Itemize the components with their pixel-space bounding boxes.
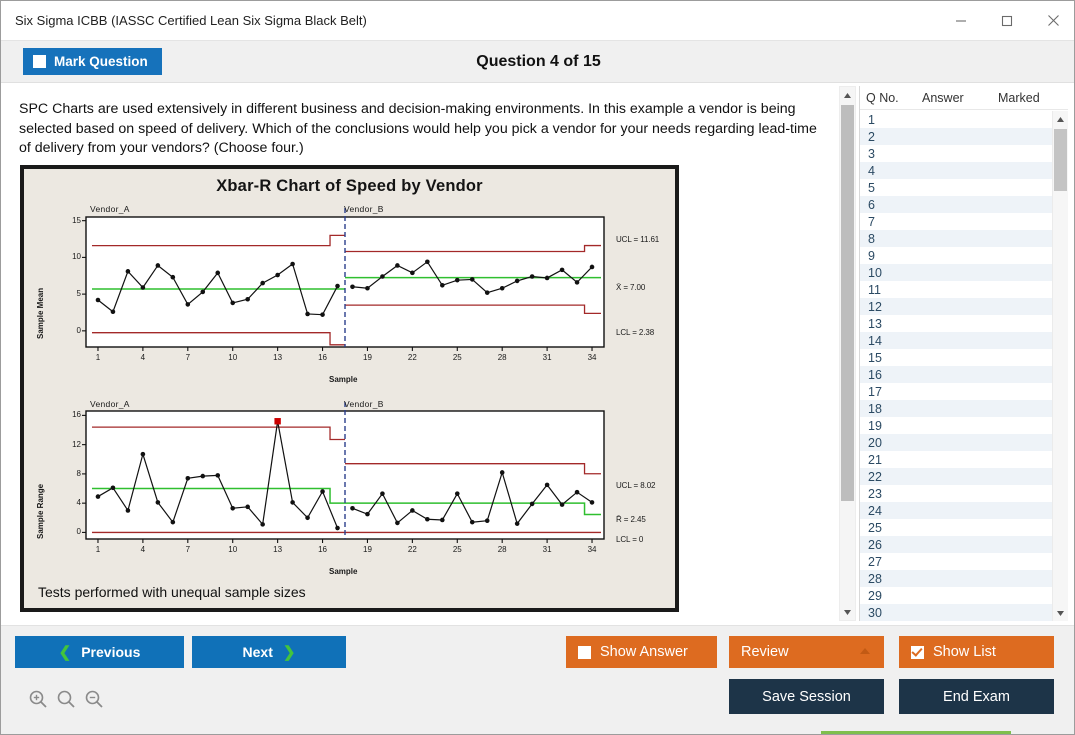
mark-question-label: Mark Question — [54, 54, 148, 69]
x-tick-label: 19 — [359, 545, 375, 554]
zoom-reset-icon[interactable] — [53, 686, 79, 712]
x-tick-label: 4 — [135, 545, 151, 554]
y-tick-label: 10 — [68, 252, 81, 261]
range-lcl-annotation: LCL = 0 — [616, 535, 643, 544]
content-scroll-thumb[interactable] — [841, 105, 854, 501]
spc-chart-image: Xbar-R Chart of Speed by Vendor Sample M… — [20, 165, 679, 612]
x-tick-label: 16 — [315, 353, 331, 362]
save-session-button[interactable]: Save Session — [729, 679, 884, 714]
table-row[interactable]: 3 — [860, 145, 1053, 162]
x-tick-label: 1 — [90, 353, 106, 362]
chevron-left-icon: ❮ — [59, 643, 72, 661]
cell-qno: 19 — [860, 419, 922, 433]
xbar-stage-label-a: Vendor_A — [90, 204, 130, 214]
y-tick-label: 0 — [68, 527, 81, 536]
x-tick-label: 19 — [359, 353, 375, 362]
cell-qno: 23 — [860, 487, 922, 501]
chart-title: Xbar-R Chart of Speed by Vendor — [24, 177, 675, 196]
y-tick-label: 16 — [68, 410, 81, 419]
table-row[interactable]: 29 — [860, 587, 1053, 604]
chevron-up-icon — [860, 648, 870, 654]
table-row[interactable]: 18 — [860, 400, 1053, 417]
y-tick-label: 0 — [68, 326, 81, 335]
x-tick-label: 22 — [404, 545, 420, 554]
table-row[interactable]: 22 — [860, 468, 1053, 485]
status-accent-bar — [821, 731, 1011, 735]
x-tick-label: 7 — [180, 545, 196, 554]
list-scroll-down-icon[interactable] — [1053, 605, 1068, 621]
next-label: Next — [243, 644, 273, 660]
window-title: Six Sigma ICBB (IASSC Certified Lean Six… — [15, 13, 367, 28]
table-row[interactable]: 8 — [860, 230, 1053, 247]
cell-qno: 2 — [860, 130, 922, 144]
xbar-plot — [24, 199, 675, 389]
title-bar: Six Sigma ICBB (IASSC Certified Lean Six… — [1, 1, 1075, 41]
show-list-checkbox[interactable] — [911, 646, 924, 659]
cell-qno: 25 — [860, 521, 922, 535]
table-row[interactable]: 20 — [860, 434, 1053, 451]
table-row[interactable]: 5 — [860, 179, 1053, 196]
range-x-axis-label: Sample — [329, 567, 357, 576]
cell-qno: 21 — [860, 453, 922, 467]
cell-qno: 20 — [860, 436, 922, 450]
cell-qno: 17 — [860, 385, 922, 399]
cell-qno: 28 — [860, 572, 922, 586]
table-row[interactable]: 16 — [860, 366, 1053, 383]
cell-qno: 5 — [860, 181, 922, 195]
cell-qno: 15 — [860, 351, 922, 365]
x-tick-label: 10 — [225, 545, 241, 554]
scroll-up-icon[interactable] — [840, 87, 855, 103]
maximize-icon[interactable] — [984, 1, 1030, 40]
show-list-button[interactable]: Show List — [899, 636, 1054, 668]
page-title: Question 4 of 15 — [1, 41, 1075, 83]
mark-question-button[interactable]: Mark Question — [23, 48, 162, 75]
end-exam-button[interactable]: End Exam — [899, 679, 1054, 714]
column-header-answer: Answer — [922, 91, 998, 105]
xbar-stage-label-b: Vendor_B — [344, 204, 384, 214]
table-row[interactable]: 21 — [860, 451, 1053, 468]
content-scrollbar[interactable] — [839, 86, 856, 621]
x-tick-label: 16 — [315, 545, 331, 554]
cell-qno: 8 — [860, 232, 922, 246]
xbar-center-annotation: X̄ = 7.00 — [616, 283, 645, 292]
xbar-x-axis-label: Sample — [329, 375, 357, 384]
y-tick-label: 8 — [68, 469, 81, 478]
zoom-in-icon[interactable] — [25, 686, 51, 712]
y-tick-label: 15 — [68, 216, 81, 225]
list-scrollbar[interactable] — [1052, 111, 1068, 621]
table-row[interactable]: 14 — [860, 332, 1053, 349]
cell-qno: 9 — [860, 249, 922, 263]
x-tick-label: 7 — [180, 353, 196, 362]
range-ucl-annotation: UCL = 8.02 — [616, 481, 655, 490]
table-row[interactable]: 15 — [860, 349, 1053, 366]
cell-qno: 3 — [860, 147, 922, 161]
x-tick-label: 10 — [225, 353, 241, 362]
table-row[interactable]: 1 — [860, 111, 1053, 128]
x-tick-label: 31 — [539, 353, 555, 362]
chevron-right-icon: ❯ — [283, 643, 296, 661]
review-dropdown[interactable]: Review — [729, 636, 884, 668]
chart-footnote: Tests performed with unequal sample size… — [38, 584, 306, 600]
cell-qno: 24 — [860, 504, 922, 518]
table-row[interactable]: 17 — [860, 383, 1053, 400]
range-y-axis-label: Sample Range — [36, 484, 45, 539]
end-exam-label: End Exam — [943, 689, 1010, 705]
exam-window: Six Sigma ICBB (IASSC Certified Lean Six… — [0, 0, 1075, 735]
table-row[interactable]: 30 — [860, 604, 1053, 621]
close-icon[interactable] — [1030, 1, 1075, 40]
table-row[interactable]: 28 — [860, 570, 1053, 587]
cell-qno: 30 — [860, 606, 922, 620]
table-row[interactable]: 19 — [860, 417, 1053, 434]
x-tick-label: 31 — [539, 545, 555, 554]
previous-button[interactable]: ❮ Previous — [15, 636, 184, 668]
show-list-label: Show List — [933, 644, 996, 660]
x-tick-label: 13 — [270, 353, 286, 362]
table-row[interactable]: 23 — [860, 485, 1053, 502]
cell-qno: 11 — [860, 283, 922, 297]
range-chart: Sample Range Vendor_A Vendor_B UCL = 8.0… — [24, 397, 675, 579]
mark-question-checkbox[interactable] — [33, 55, 46, 68]
x-tick-label: 1 — [90, 545, 106, 554]
table-row[interactable]: 26 — [860, 536, 1053, 553]
previous-label: Previous — [81, 644, 140, 660]
show-answer-checkbox[interactable] — [578, 646, 591, 659]
question-content-pane: SPC Charts are used extensively in diffe… — [9, 86, 837, 621]
next-button[interactable]: Next ❯ — [192, 636, 346, 668]
xbar-chart: Sample Mean Vendor_A Vendor_B UCL = 11.6… — [24, 199, 675, 389]
list-scroll-thumb[interactable] — [1054, 129, 1067, 191]
table-row[interactable]: 27 — [860, 553, 1053, 570]
show-answer-button[interactable]: Show Answer — [566, 636, 717, 668]
xbar-y-axis-label: Sample Mean — [36, 288, 45, 339]
cell-qno: 7 — [860, 215, 922, 229]
x-tick-label: 25 — [449, 353, 465, 362]
zoom-out-icon[interactable] — [81, 686, 107, 712]
range-stage-label-b: Vendor_B — [344, 399, 384, 409]
table-row[interactable]: 7 — [860, 213, 1053, 230]
cell-qno: 10 — [860, 266, 922, 280]
x-tick-label: 25 — [449, 545, 465, 554]
cell-qno: 1 — [860, 113, 922, 127]
table-row[interactable]: 24 — [860, 502, 1053, 519]
x-tick-label: 28 — [494, 353, 510, 362]
x-tick-label: 4 — [135, 353, 151, 362]
table-row[interactable]: 10 — [860, 264, 1053, 281]
cell-qno: 22 — [860, 470, 922, 484]
range-plot — [24, 397, 675, 579]
xbar-lcl-annotation: LCL = 2.38 — [616, 328, 654, 337]
cell-qno: 6 — [860, 198, 922, 212]
y-tick-label: 4 — [68, 498, 81, 507]
table-row[interactable]: 11 — [860, 281, 1053, 298]
x-tick-label: 34 — [584, 545, 600, 554]
cell-qno: 14 — [860, 334, 922, 348]
x-tick-label: 28 — [494, 545, 510, 554]
xbar-ucl-annotation: UCL = 11.61 — [616, 235, 659, 244]
review-label: Review — [741, 644, 789, 660]
cell-qno: 18 — [860, 402, 922, 416]
cell-qno: 4 — [860, 164, 922, 178]
table-row[interactable]: 2 — [860, 128, 1053, 145]
range-center-annotation: R̄ = 2.45 — [616, 515, 646, 524]
cell-qno: 26 — [860, 538, 922, 552]
range-stage-label-a: Vendor_A — [90, 399, 130, 409]
table-row[interactable]: 6 — [860, 196, 1053, 213]
question-list-panel: Q No. Answer Marked 12345678910111213141… — [859, 86, 1068, 621]
scroll-down-icon[interactable] — [840, 604, 855, 620]
x-tick-label: 34 — [584, 353, 600, 362]
column-header-marked: Marked — [998, 91, 1058, 105]
table-row[interactable]: 25 — [860, 519, 1053, 536]
cell-qno: 12 — [860, 300, 922, 314]
x-tick-label: 13 — [270, 545, 286, 554]
cell-qno: 16 — [860, 368, 922, 382]
list-scroll-up-icon[interactable] — [1053, 111, 1068, 127]
header-bar: Question 4 of 15 Mark Question — [1, 41, 1075, 83]
x-tick-label: 22 — [404, 353, 420, 362]
cell-qno: 27 — [860, 555, 922, 569]
footer-toolbar: ❮ Previous Next ❯ Show Answer Review Sho… — [1, 625, 1075, 735]
cell-qno: 13 — [860, 317, 922, 331]
question-list-header: Q No. Answer Marked — [860, 86, 1068, 110]
table-row[interactable]: 4 — [860, 162, 1053, 179]
table-row[interactable]: 13 — [860, 315, 1053, 332]
question-text: SPC Charts are used extensively in diffe… — [19, 100, 827, 159]
column-header-qno: Q No. — [860, 91, 922, 105]
table-row[interactable]: 9 — [860, 247, 1053, 264]
show-answer-label: Show Answer — [600, 644, 688, 660]
y-tick-label: 12 — [68, 440, 81, 449]
y-tick-label: 5 — [68, 289, 81, 298]
save-session-label: Save Session — [762, 689, 851, 705]
table-row[interactable]: 12 — [860, 298, 1053, 315]
cell-qno: 29 — [860, 589, 922, 603]
minimize-icon[interactable] — [938, 1, 984, 40]
question-list-rows[interactable]: 1234567891011121314151617181920212223242… — [860, 111, 1053, 621]
